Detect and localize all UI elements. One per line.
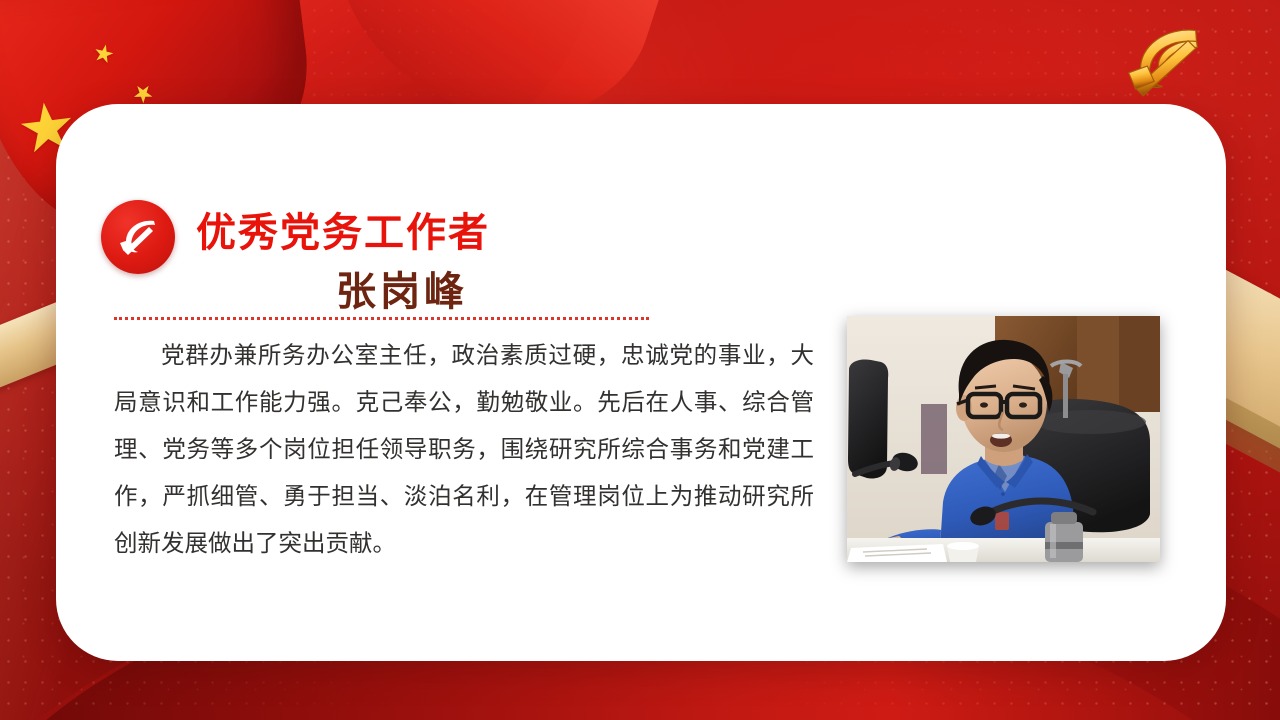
- content-card: 优秀党务工作者 张岗峰 党群办兼所务办公室主任，政治素质过硬，忠诚党的事业，大局…: [56, 104, 1226, 661]
- slide-canvas: ★ ★ ★ ★ ★: [0, 0, 1280, 720]
- person-photo: [847, 316, 1160, 562]
- page-title: 优秀党务工作者: [196, 200, 490, 258]
- hammer-and-sickle-gold-icon: [1114, 22, 1218, 100]
- hammer-and-sickle-icon: [101, 200, 175, 274]
- flag-star-small-1: ★: [90, 41, 116, 69]
- biography-text: 党群办兼所务办公室主任，政治素质过硬，忠诚党的事业，大局意识和工作能力强。克己奉…: [114, 332, 814, 567]
- title-divider: [114, 317, 649, 320]
- person-name: 张岗峰: [336, 259, 468, 317]
